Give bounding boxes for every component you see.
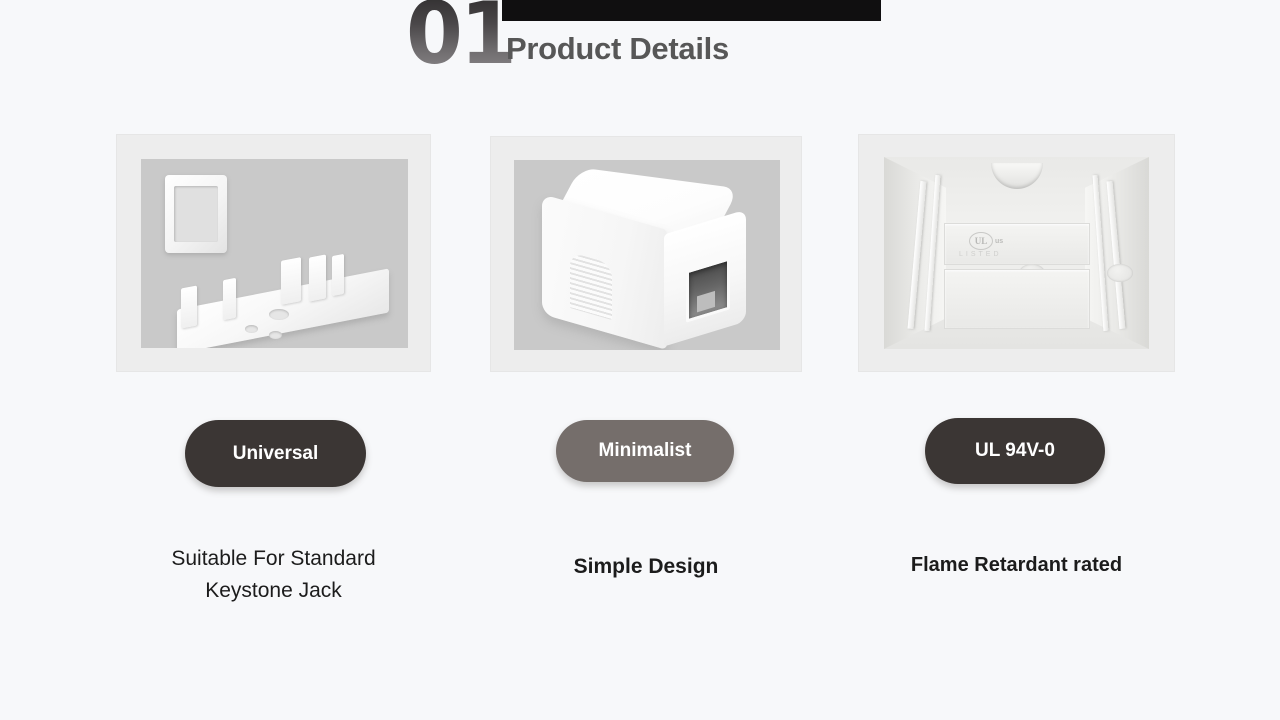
base-rib — [309, 254, 326, 301]
ul-us-suffix: us — [995, 238, 1003, 245]
caption-1-line-2: Keystone Jack — [116, 575, 431, 607]
badge-ul-94v-0[interactable]: UL 94V-0 — [925, 418, 1105, 484]
badge-minimalist[interactable]: Minimalist — [556, 420, 734, 482]
section-header: 01 Product Details — [0, 0, 1280, 95]
faceplate-window — [174, 186, 218, 242]
product-details-page: 01 Product Details — [0, 0, 1280, 720]
badge-universal[interactable]: Universal — [185, 420, 366, 487]
caption-1-line-1: Suitable For Standard — [116, 543, 431, 575]
screw-hole — [269, 309, 289, 320]
surface-mount-box-shape — [514, 160, 780, 350]
base-rib — [181, 285, 197, 328]
screw-hole — [269, 331, 282, 339]
port-tab — [697, 291, 715, 313]
ul-listing-mark: UL us — [969, 232, 1003, 250]
product-card-3[interactable]: UL us LISTED — [858, 134, 1175, 372]
page-title: Product Details — [506, 31, 729, 67]
faceplate-shape — [165, 175, 227, 253]
product-card-2[interactable] — [490, 136, 802, 372]
caption-2: Simple Design — [490, 555, 802, 579]
base-rib — [332, 254, 344, 296]
header-black-bar — [502, 0, 881, 21]
caption-1: Suitable For Standard Keystone Jack — [116, 543, 431, 607]
ul-listed-text: LISTED — [959, 251, 1002, 258]
base-rib — [281, 257, 301, 305]
caption-3: Flame Retardant rated — [858, 554, 1175, 577]
base-plate-assembly — [177, 251, 389, 337]
product-image-1 — [141, 159, 408, 348]
base-rib — [223, 278, 236, 321]
screw-hole — [245, 325, 258, 333]
product-card-1[interactable] — [116, 134, 431, 372]
product-image-2 — [514, 160, 780, 350]
interior-panel-upper: UL us LISTED — [944, 223, 1090, 265]
interior-panel-lower — [944, 269, 1090, 329]
section-number: 01 — [406, 0, 514, 77]
product-image-3: UL us LISTED — [884, 157, 1149, 349]
ul-logo-icon: UL — [969, 232, 993, 250]
knockout-circle — [1107, 264, 1133, 282]
